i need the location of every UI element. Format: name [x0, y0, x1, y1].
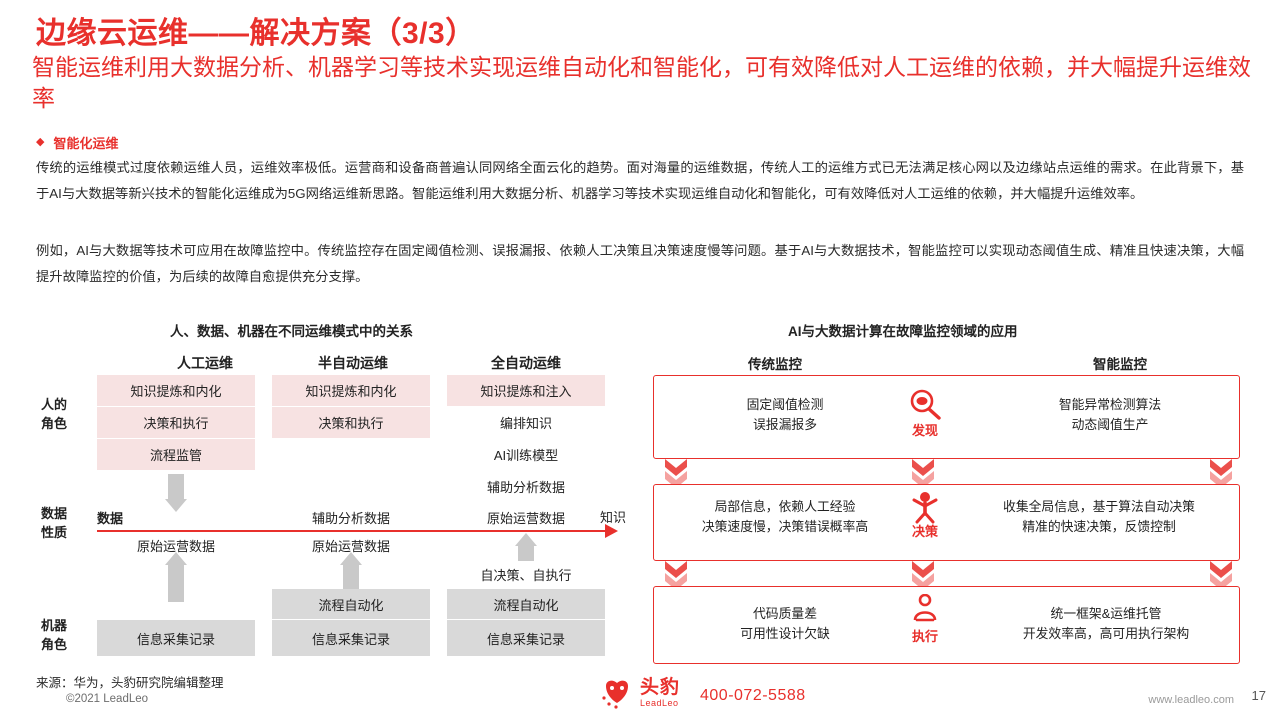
right-row-1-right: 智能异常检测算法 动态阈值生产: [985, 395, 1235, 436]
right-col-header-traditional: 传统监控: [660, 353, 890, 373]
leopard-logo-icon: [600, 676, 634, 710]
website-url: www.leadleo.com: [1148, 694, 1234, 706]
data-semi-top: 辅助分析数据: [272, 506, 430, 528]
row-label-machine: 机器角色: [26, 617, 82, 655]
right-row-2-left: 局部信息，依赖人工经验 决策速度慢，决策错误概率高: [650, 497, 920, 538]
right-row-3-right: 统一框架&运维托管 开发效率高，高可用执行架构: [975, 604, 1237, 645]
human-auto-2: 编排知识: [447, 407, 605, 438]
left-col-header-manual: 人工运维: [140, 353, 270, 373]
person-execute-icon: [907, 594, 943, 628]
right-row-1-left-line2: 误报漏报多: [753, 417, 817, 432]
source-note: 来源：华为，头豹研究院编辑整理: [36, 672, 224, 691]
machine-auto-2: 信息采集记录: [447, 620, 605, 656]
right-row-3-left-line1: 代码质量差: [753, 606, 817, 621]
data-axis-start-label: 数据: [97, 506, 217, 528]
logo-en-text: LeadLeo: [640, 699, 680, 708]
human-manual-1: 知识提炼和内化: [97, 375, 255, 406]
logo-cn-text: 头豹: [640, 678, 680, 697]
right-row-2-left-line2: 决策速度慢，决策错误概率高: [702, 519, 868, 534]
page-number: 17: [1252, 688, 1266, 703]
human-auto-4: 辅助分析数据: [447, 471, 605, 502]
page-subtitle: 智能运维利用大数据分析、机器学习等技术实现运维自动化和智能化，可有效降低对人工运…: [32, 52, 1262, 114]
machine-semi-1: 流程自动化: [272, 589, 430, 619]
right-row-1-left-line1: 固定阈值检测: [747, 397, 824, 412]
right-row-3-right-line1: 统一框架&运维托管: [1051, 606, 1162, 621]
row-label-data: 数据性质: [26, 505, 82, 543]
copyright-note: ©2021 LeadLeo: [66, 693, 148, 705]
right-row-3-left: 代码质量差 可用性设计欠缺: [660, 604, 910, 645]
right-row-2-icon-label: 决策: [890, 521, 960, 540]
right-row-1-right-line2: 动态阈值生产: [1072, 417, 1149, 432]
section-bullet: ◆ 智能化运维: [36, 133, 118, 152]
body-paragraph-1: 传统的运维模式过度依赖运维人员，运维效率极低。运营商和设备商普遍认同网络全面云化…: [36, 155, 1244, 206]
left-col-header-semi: 半自动运维: [288, 353, 418, 373]
human-semi-1: 知识提炼和内化: [272, 375, 430, 406]
machine-manual-1: 信息采集记录: [97, 620, 255, 656]
right-row-1-icon-label: 发现: [890, 420, 960, 439]
page-title: 边缘云运维——解决方案（3/3）: [36, 8, 476, 52]
data-auto-bottom: 自决策、自执行: [447, 561, 605, 587]
diamond-icon: ◆: [36, 137, 44, 148]
right-row-2-right-line2: 精准的快速决策，反馈控制: [1022, 519, 1176, 534]
leadleo-logo: 头豹 LeadLeo: [600, 676, 680, 710]
right-row-2-right-line1: 收集全局信息，基于算法自动决策: [1003, 499, 1195, 514]
right-row-1-left: 固定阈值检测 误报漏报多: [660, 395, 910, 436]
person-decision-icon: [907, 490, 943, 524]
leadleo-logo-text: 头豹 LeadLeo: [640, 678, 680, 708]
human-manual-3: 流程监管: [97, 439, 255, 470]
row-label-human: 人的角色: [26, 396, 82, 434]
right-row-2-right: 收集全局信息，基于算法自动决策 精准的快速决策，反馈控制: [960, 497, 1238, 538]
left-col-header-auto: 全自动运维: [461, 353, 591, 373]
slide-page: 边缘云运维——解决方案（3/3） 智能运维利用大数据分析、机器学习等技术实现运维…: [0, 0, 1280, 720]
magnifier-icon: [905, 388, 945, 420]
data-auto-top: 原始运营数据: [447, 506, 605, 528]
right-row-2-left-line1: 局部信息，依赖人工经验: [715, 499, 856, 514]
machine-semi-2: 信息采集记录: [272, 620, 430, 656]
body-paragraph-2: 例如，AI与大数据等技术可应用在故障监控中。传统监控存在固定阈值检测、误报漏报、…: [36, 238, 1244, 289]
left-chart-title: 人、数据、机器在不同运维模式中的关系: [170, 320, 413, 340]
right-chart-title: AI与大数据计算在故障监控领域的应用: [788, 320, 1018, 340]
human-auto-3: AI训练模型: [447, 439, 605, 470]
right-row-1-right-line1: 智能异常检测算法: [1059, 397, 1161, 412]
contact-phone: 400-072-5588: [700, 687, 806, 705]
right-row-3-right-line2: 开发效率高，高可用执行架构: [1023, 626, 1189, 641]
right-col-header-smart: 智能监控: [1000, 353, 1240, 373]
right-row-3-left-line2: 可用性设计欠缺: [740, 626, 830, 641]
right-row-3-icon-label: 执行: [890, 626, 960, 645]
section-bullet-label: 智能化运维: [53, 133, 118, 152]
human-manual-2: 决策和执行: [97, 407, 255, 438]
human-semi-2: 决策和执行: [272, 407, 430, 438]
machine-auto-1: 流程自动化: [447, 589, 605, 619]
human-auto-1: 知识提炼和注入: [447, 375, 605, 406]
